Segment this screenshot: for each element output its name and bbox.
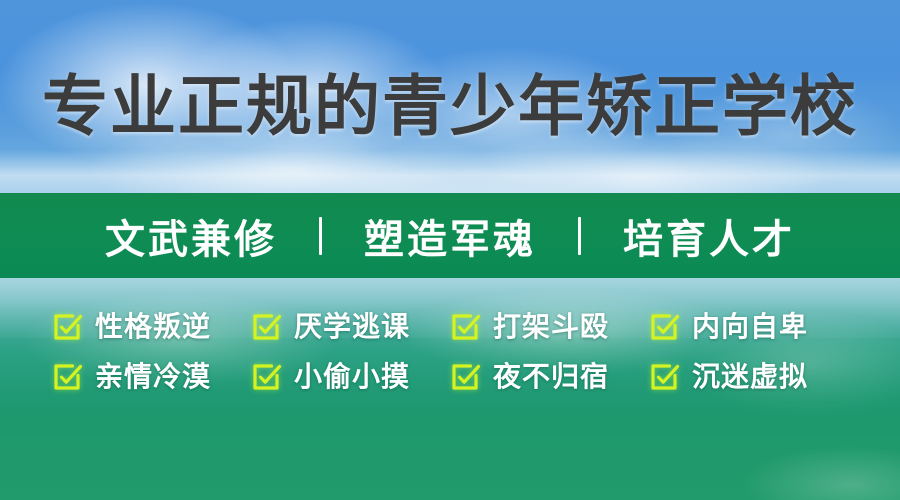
promo-banner: 专业正规的青少年矫正学校 文武兼修 塑造军魂 培育人才 性格叛逆	[0, 0, 900, 500]
checkbox-checked-icon[interactable]	[52, 362, 82, 392]
behavior-checklist: 性格叛逆 厌学逃课 打架斗殴	[52, 312, 848, 392]
checkbox-checked-icon[interactable]	[649, 312, 679, 342]
checkbox-checked-icon[interactable]	[251, 312, 281, 342]
slogan-bar: 文武兼修 塑造军魂 培育人才	[0, 193, 900, 278]
checklist-item[interactable]: 内向自卑	[649, 312, 848, 342]
checklist-item[interactable]: 性格叛逆	[52, 312, 251, 342]
checklist-item[interactable]: 沉迷虚拟	[649, 362, 848, 392]
checkbox-checked-icon[interactable]	[450, 362, 480, 392]
checkbox-checked-icon[interactable]	[649, 362, 679, 392]
checklist-item-label: 内向自卑	[692, 313, 808, 341]
checklist-item[interactable]: 打架斗殴	[450, 312, 649, 342]
checkbox-checked-icon[interactable]	[52, 312, 82, 342]
checklist-item-label: 夜不归宿	[493, 363, 609, 391]
slogan-item-3: 培育人才	[617, 207, 801, 265]
slogan-divider	[578, 217, 581, 255]
checklist-item[interactable]: 厌学逃课	[251, 312, 450, 342]
checklist-item[interactable]: 夜不归宿	[450, 362, 649, 392]
checklist-item-label: 小偷小摸	[294, 363, 410, 391]
slogan-item-2: 塑造军魂	[358, 207, 542, 265]
checklist-item-label: 性格叛逆	[95, 313, 211, 341]
checklist-item-label: 厌学逃课	[294, 313, 410, 341]
checklist-item-label: 亲情冷漠	[95, 363, 211, 391]
slogan-text-group: 文武兼修 塑造军魂 培育人才	[99, 207, 801, 265]
page-title: 专业正规的青少年矫正学校	[0, 74, 900, 140]
slogan-item-1: 文武兼修	[99, 207, 283, 265]
checklist-item-label: 打架斗殴	[493, 313, 609, 341]
checkbox-checked-icon[interactable]	[251, 362, 281, 392]
checklist-item-label: 沉迷虚拟	[692, 363, 808, 391]
checklist-item[interactable]: 小偷小摸	[251, 362, 450, 392]
checklist-item[interactable]: 亲情冷漠	[52, 362, 251, 392]
checkbox-checked-icon[interactable]	[450, 312, 480, 342]
slogan-divider	[319, 217, 322, 255]
